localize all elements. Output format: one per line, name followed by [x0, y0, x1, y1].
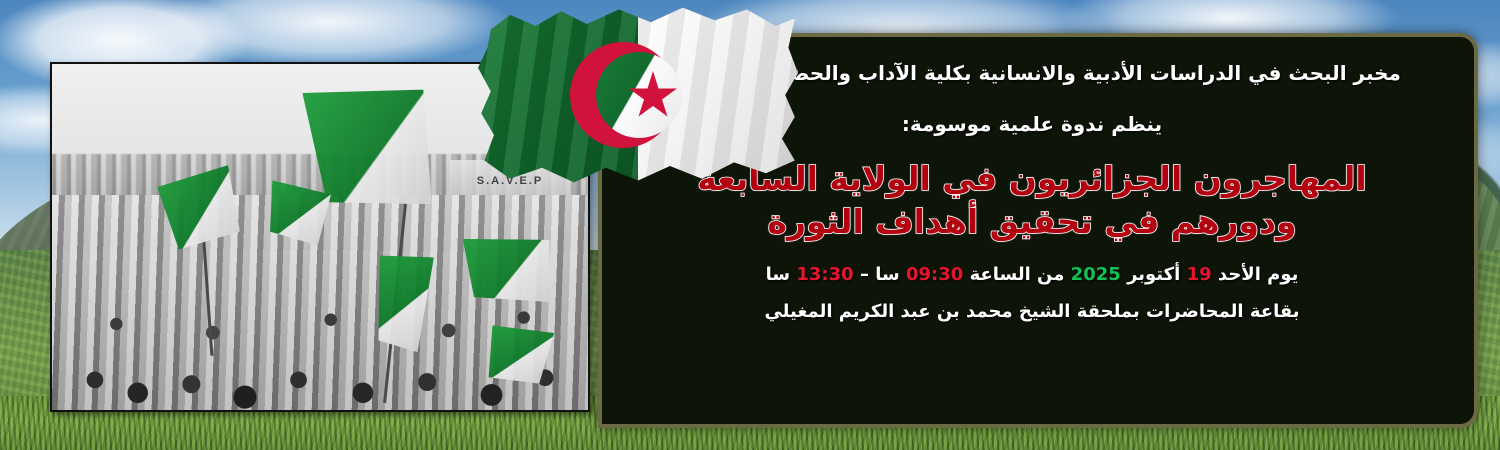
date-prefix: يوم الأحد: [1218, 264, 1298, 285]
hour-unit-start: سا: [875, 264, 899, 285]
time-start: 09:30: [906, 264, 963, 285]
time-separator: –: [860, 264, 869, 285]
month-name: أكتوبر: [1127, 264, 1180, 285]
year-number: 2025: [1071, 264, 1121, 285]
time-intro: من الساعة: [970, 264, 1065, 285]
hour-unit-end: سا: [766, 264, 790, 285]
venue-line: بقاعة المحاضرات بملحقة الشيخ محمد بن عبد…: [616, 301, 1448, 322]
seminar-title: المهاجرون الجزائريون في الولاية السابعة …: [616, 158, 1448, 244]
time-end: 13:30: [796, 264, 853, 285]
algerian-flag: [478, 4, 798, 186]
seminar-banner: S.A.V.E.P MECANIQUE مخبر البحث في الدراس…: [0, 0, 1500, 450]
date-time-line: يوم الأحد 19 أكتوبر 2025 من الساعة 09:30…: [616, 264, 1448, 285]
day-number: 19: [1187, 264, 1212, 285]
seminar-title-line-2: ودورهم في تحقيق أهداف الثورة: [616, 201, 1448, 244]
